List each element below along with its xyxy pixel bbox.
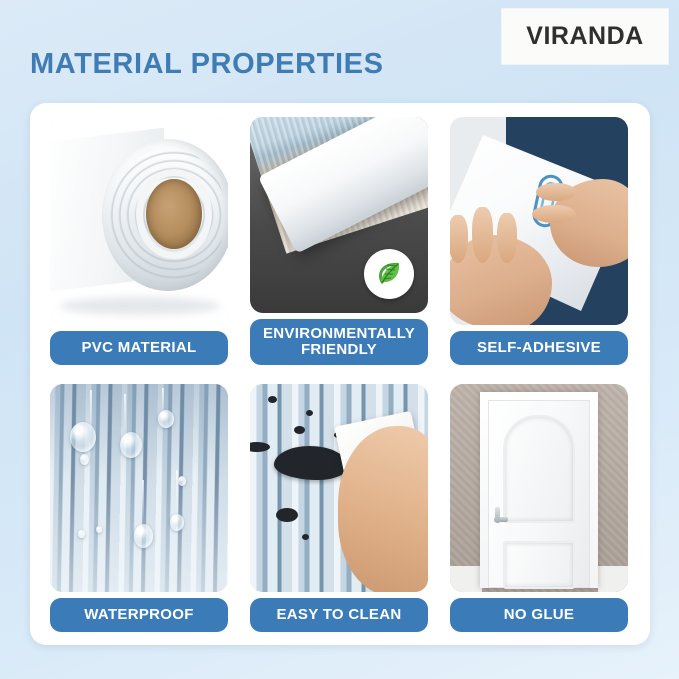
self-adhesive-illustration: [450, 117, 628, 325]
feature-image-waterproof: [50, 384, 228, 592]
feature-label-environmentally-friendly: ENVIRONMENTALLY FRIENDLY: [250, 319, 428, 365]
feature-image-easy-to-clean: [250, 384, 428, 592]
feature-cell-no-glue[interactable]: NO GLUE: [450, 384, 628, 632]
feature-cell-self-adhesive[interactable]: SELF-ADHESIVE: [450, 117, 628, 365]
feature-label-pvc-material: PVC MATERIAL: [50, 331, 228, 365]
feature-image-self-adhesive: [450, 117, 628, 325]
door-illustration: [450, 384, 628, 592]
feature-label-waterproof: WATERPROOF: [50, 598, 228, 632]
feature-cell-easy-to-clean[interactable]: EASY TO CLEAN: [250, 384, 428, 632]
feature-card: PVC MATERIAL: [30, 103, 650, 645]
eco-peel-illustration: [250, 117, 428, 313]
feature-label-no-glue: NO GLUE: [450, 598, 628, 632]
feature-cell-pvc-material[interactable]: PVC MATERIAL: [50, 117, 228, 365]
feature-image-pvc-material: [50, 117, 228, 325]
feature-grid: PVC MATERIAL: [50, 117, 630, 632]
leaf-icon: [372, 257, 406, 291]
infographic-root: MATERIAL PROPERTIES VIRANDA PVC MATERIA: [0, 0, 679, 679]
feature-image-no-glue: [450, 384, 628, 592]
feature-label-line-2: FRIENDLY: [301, 341, 377, 358]
page-title: MATERIAL PROPERTIES: [30, 48, 384, 81]
leaf-badge: [364, 249, 414, 299]
easy-to-clean-illustration: [250, 384, 428, 592]
waterproof-illustration: [50, 384, 228, 592]
feature-label-line-1: ENVIRONMENTALLY: [263, 325, 415, 342]
pvc-roll-illustration: [50, 117, 228, 325]
feature-label-easy-to-clean: EASY TO CLEAN: [250, 598, 428, 632]
brand-logo-text: VIRANDA: [526, 22, 643, 51]
feature-label-self-adhesive: SELF-ADHESIVE: [450, 331, 628, 365]
feature-cell-environmentally-friendly[interactable]: ENVIRONMENTALLY FRIENDLY: [250, 117, 428, 365]
brand-logo: VIRANDA: [502, 9, 668, 64]
feature-image-environmentally-friendly: [250, 117, 428, 313]
feature-cell-waterproof[interactable]: WATERPROOF: [50, 384, 228, 632]
